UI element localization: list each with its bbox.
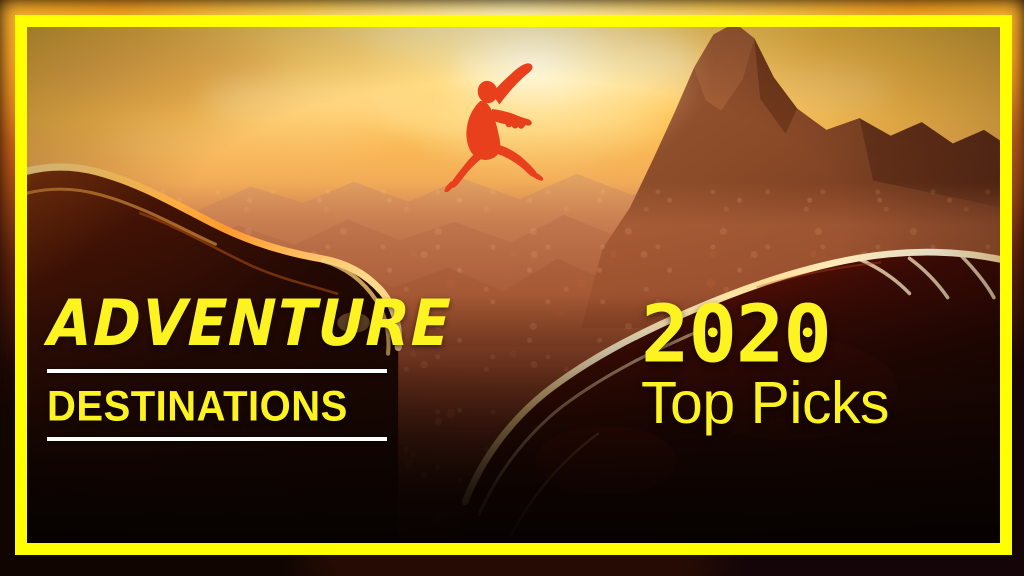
- jumping-person-silhouette: [434, 58, 556, 192]
- headline-adventure: ADVENTURE: [47, 293, 394, 354]
- left-text-block: ADVENTURE DESTINATIONS: [47, 300, 392, 441]
- scene-photo: [27, 27, 1000, 543]
- right-text-block: 2020 Top Picks: [641, 298, 941, 433]
- subheadline-destinations: DESTINATIONS: [47, 373, 392, 428]
- divider-rule-bottom: [47, 437, 387, 441]
- headline-year: 2020: [641, 298, 959, 371]
- thumbnail-canvas: ADVENTURE DESTINATIONS 2020 Top Picks: [0, 0, 1024, 576]
